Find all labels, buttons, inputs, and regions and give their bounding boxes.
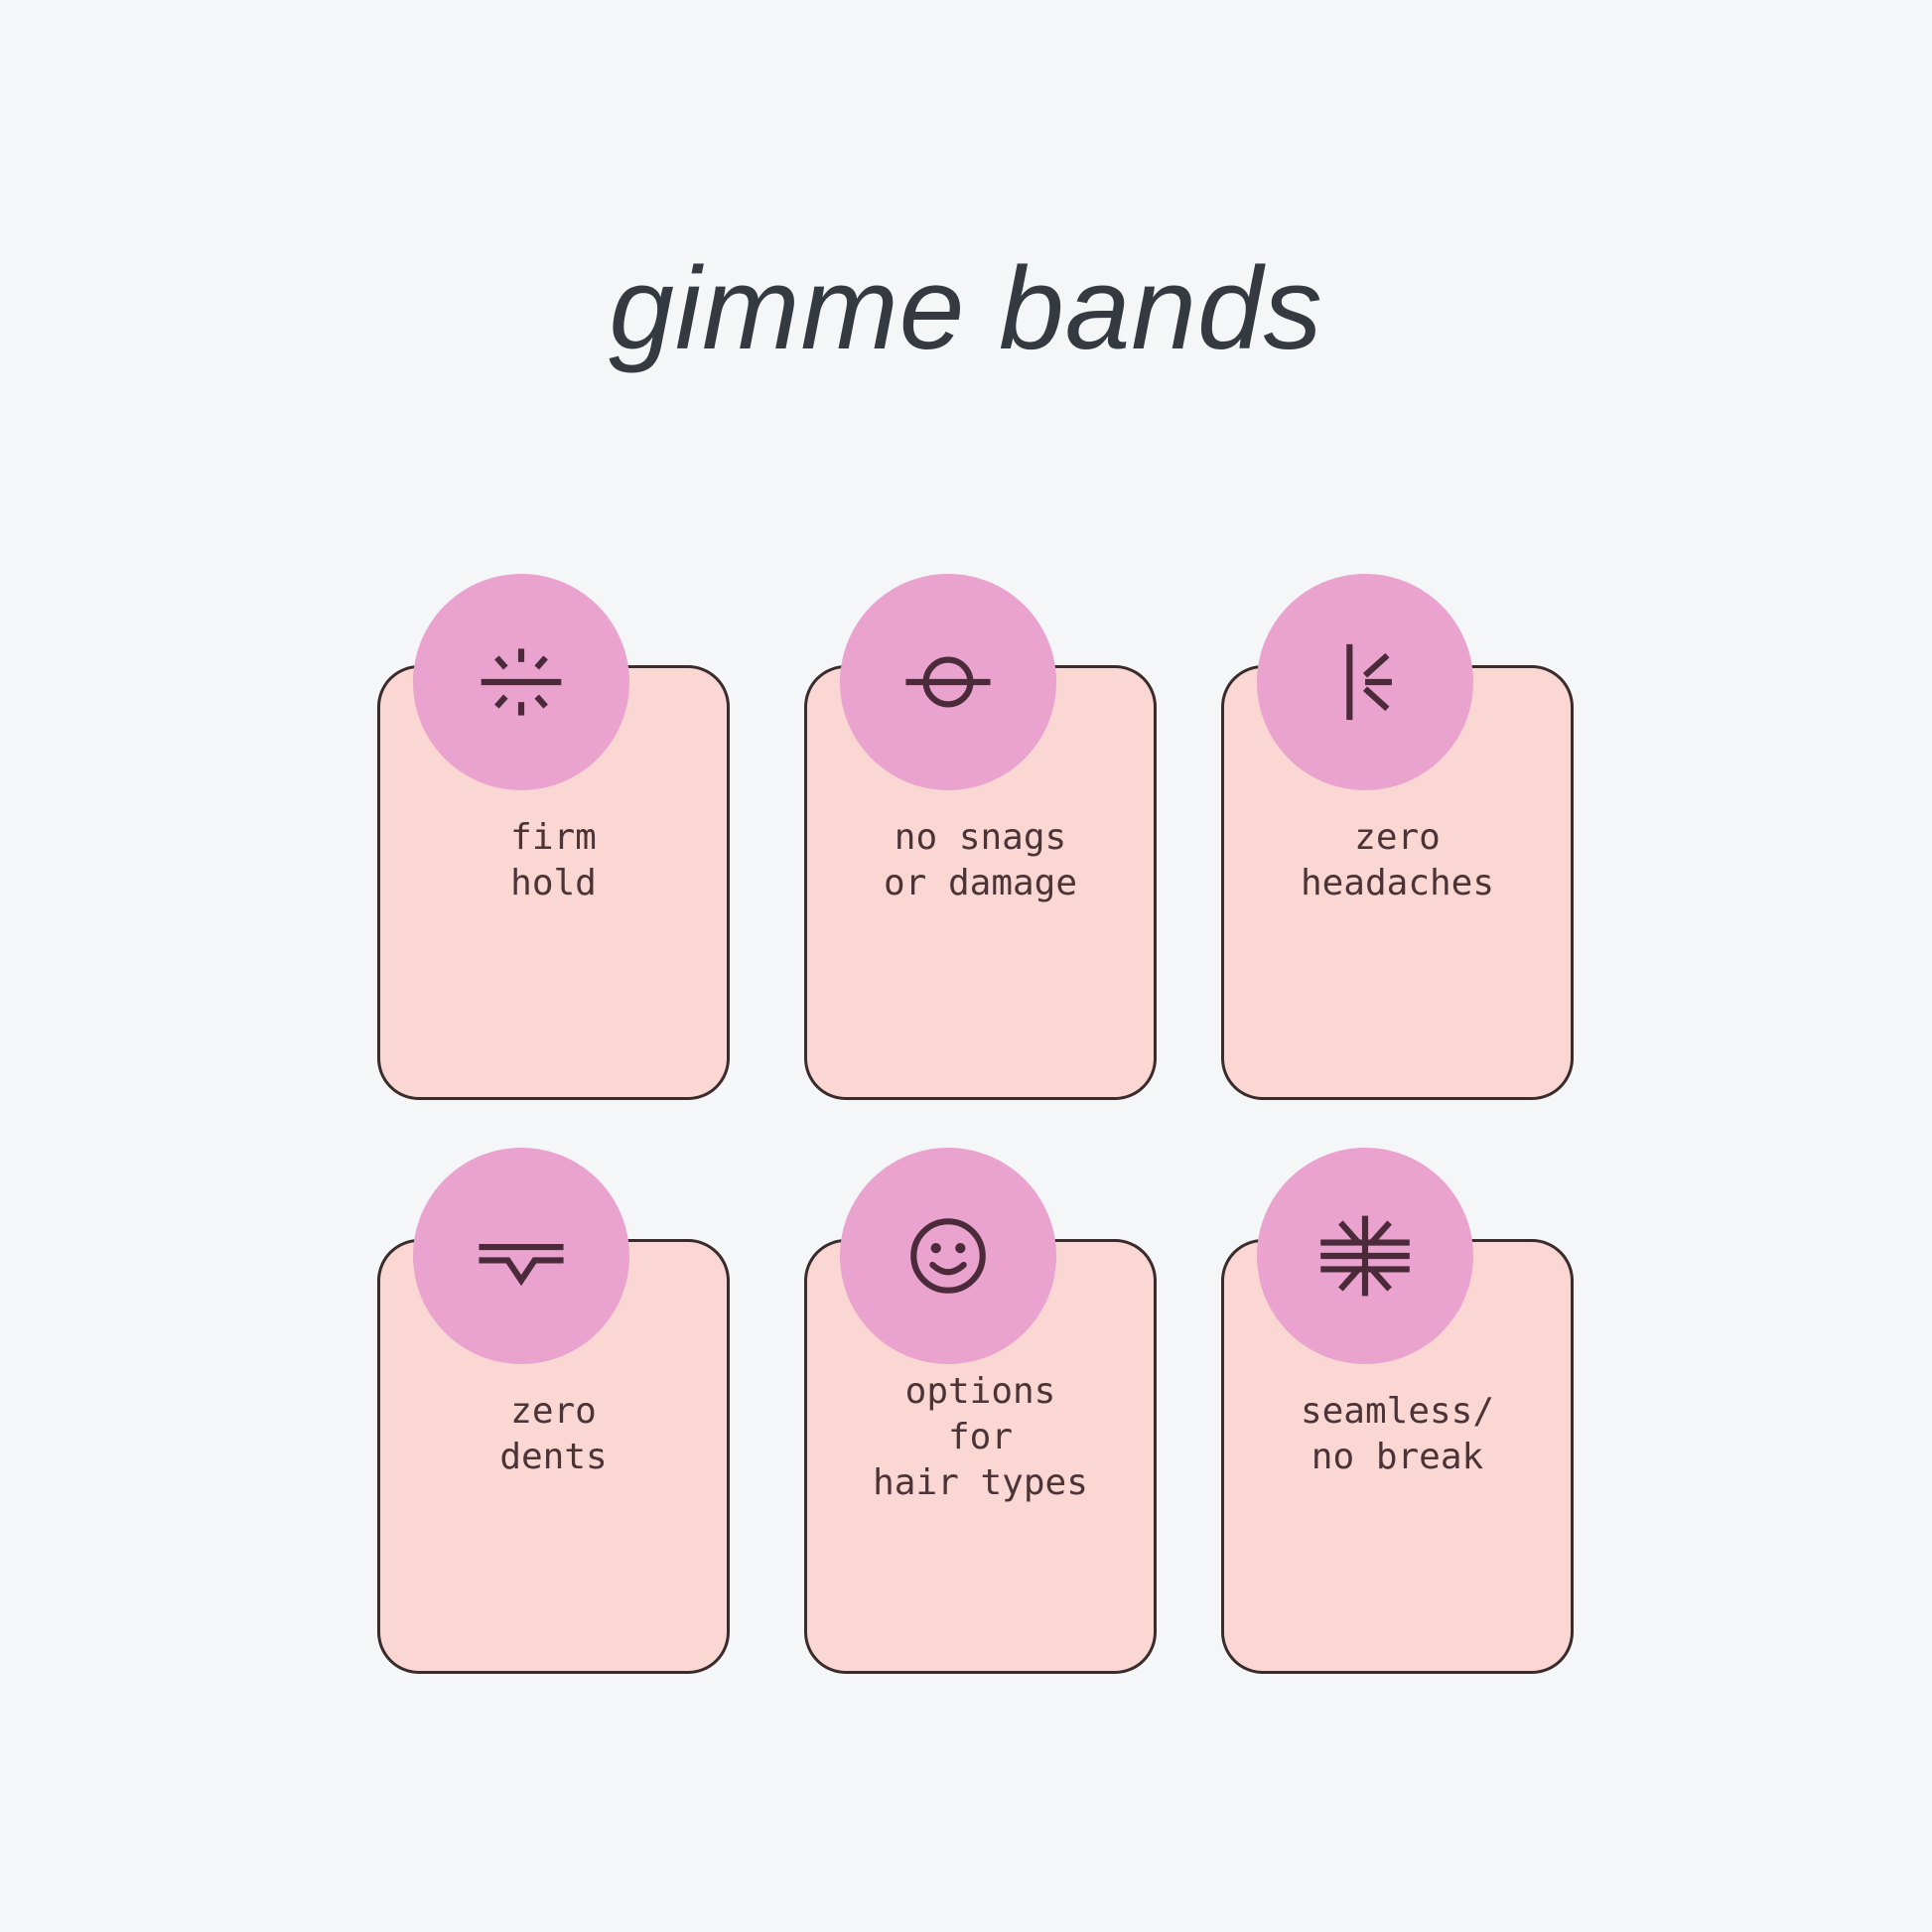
feature-badge <box>413 574 629 790</box>
feature-grid: firm hold <box>377 574 1561 1674</box>
circle-strikethrough-icon <box>893 626 1004 738</box>
pressure-release-icon <box>1310 626 1421 738</box>
feature-label: firm hold <box>380 815 727 906</box>
seamless-burst-icon <box>1310 1200 1421 1311</box>
burst-line-icon <box>466 626 577 738</box>
feature-badge <box>840 574 1056 790</box>
feature-badge <box>413 1148 629 1364</box>
feature-cell-options-for-hair-types[interactable]: options for hair types <box>804 1148 1157 1674</box>
feature-label: options for hair types <box>807 1369 1154 1506</box>
feature-badge <box>1257 574 1473 790</box>
poster-canvas: gimme bands firm hold <box>0 0 1932 1932</box>
feature-label: zero dents <box>380 1389 727 1480</box>
feature-row-2: zero dents options for hair types <box>377 1148 1561 1674</box>
feature-row-1: firm hold <box>377 574 1561 1100</box>
page-title: gimme bands <box>0 250 1932 367</box>
feature-cell-zero-headaches[interactable]: zero headaches <box>1221 574 1574 1100</box>
feature-badge <box>840 1148 1056 1364</box>
dent-lines-icon <box>466 1200 577 1311</box>
feature-label: zero headaches <box>1224 815 1571 906</box>
feature-badge <box>1257 1148 1473 1364</box>
feature-label: no snags or damage <box>807 815 1154 906</box>
feature-cell-no-snags-or-damage[interactable]: no snags or damage <box>804 574 1157 1100</box>
feature-cell-firm-hold[interactable]: firm hold <box>377 574 730 1100</box>
feature-cell-zero-dents[interactable]: zero dents <box>377 1148 730 1674</box>
feature-label: seamless/ no break <box>1224 1389 1571 1480</box>
feature-cell-seamless-no-break[interactable]: seamless/ no break <box>1221 1148 1574 1674</box>
smiley-face-icon <box>893 1200 1004 1311</box>
